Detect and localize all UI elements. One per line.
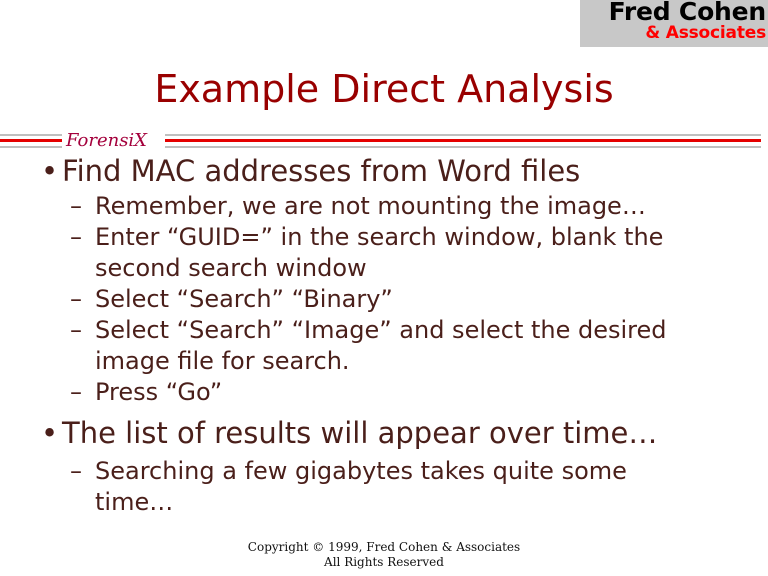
bullet-level1: • The list of results will appear over t… (0, 415, 768, 452)
bullet-level2: – Select “Search” “Image” and select the… (0, 315, 768, 377)
divider-line-gray-bottom-left (0, 146, 62, 148)
bullet-marker-dash-icon: – (70, 315, 82, 346)
slide-title: Example Direct Analysis (0, 66, 768, 112)
bullet-text: Remember, we are not mounting the image… (95, 191, 708, 222)
divider-rule-left (0, 134, 62, 149)
bullet-marker-dot-icon: • (41, 415, 58, 452)
bullet-level1: • Find MAC addresses from Word files (0, 153, 768, 190)
bullet-text: Press “Go” (95, 377, 708, 408)
bullet-marker-dash-icon: – (70, 456, 82, 487)
divider-line-gray-top-right (165, 134, 761, 136)
divider-line-red-right (165, 139, 761, 142)
brand-logo-secondary-text: & Associates (645, 24, 766, 43)
brand-logo-primary-text: Fred Cohen (609, 0, 766, 25)
bullet-text: Select “Search” “Binary” (95, 284, 708, 315)
bullet-level2: – Select “Search” “Binary” (0, 284, 768, 315)
bullet-level2: – Remember, we are not mounting the imag… (0, 191, 768, 222)
footer-copyright: Copyright © 1999, Fred Cohen & Associate… (0, 540, 768, 570)
brand-logo: Fred Cohen & Associates (580, 0, 768, 47)
bullet-text: Select “Search” “Image” and select the d… (95, 315, 708, 377)
bullet-level2: – Searching a few gigabytes takes quite … (0, 456, 768, 518)
bullet-level2: – Enter “GUID=” in the search window, bl… (0, 222, 768, 284)
bullet-level2: – Press “Go” (0, 377, 768, 408)
bullet-marker-dash-icon: – (70, 377, 82, 408)
bullet-marker-dash-icon: – (70, 191, 82, 222)
divider-line-gray-bottom-right (165, 146, 761, 148)
divider-line-red-left (0, 139, 62, 142)
bullet-text: Find MAC addresses from Word files (62, 154, 580, 188)
divider-rule-right (165, 134, 761, 149)
bullet-marker-dot-icon: • (41, 153, 58, 190)
footer-copyright-line2: All Rights Reserved (0, 555, 768, 570)
bullet-text: Searching a few gigabytes takes quite so… (95, 456, 708, 518)
bullet-text: The list of results will appear over tim… (62, 416, 657, 450)
bullet-text: Enter “GUID=” in the search window, blan… (95, 222, 708, 284)
divider-line-gray-top-left (0, 134, 62, 136)
section-divider: ForensiX (0, 129, 768, 155)
slide-body: • Find MAC addresses from Word files – R… (0, 153, 768, 518)
bullet-marker-dash-icon: – (70, 284, 82, 315)
section-label: ForensiX (66, 129, 147, 153)
bullet-marker-dash-icon: – (70, 222, 82, 253)
footer-copyright-line1: Copyright © 1999, Fred Cohen & Associate… (0, 540, 768, 555)
